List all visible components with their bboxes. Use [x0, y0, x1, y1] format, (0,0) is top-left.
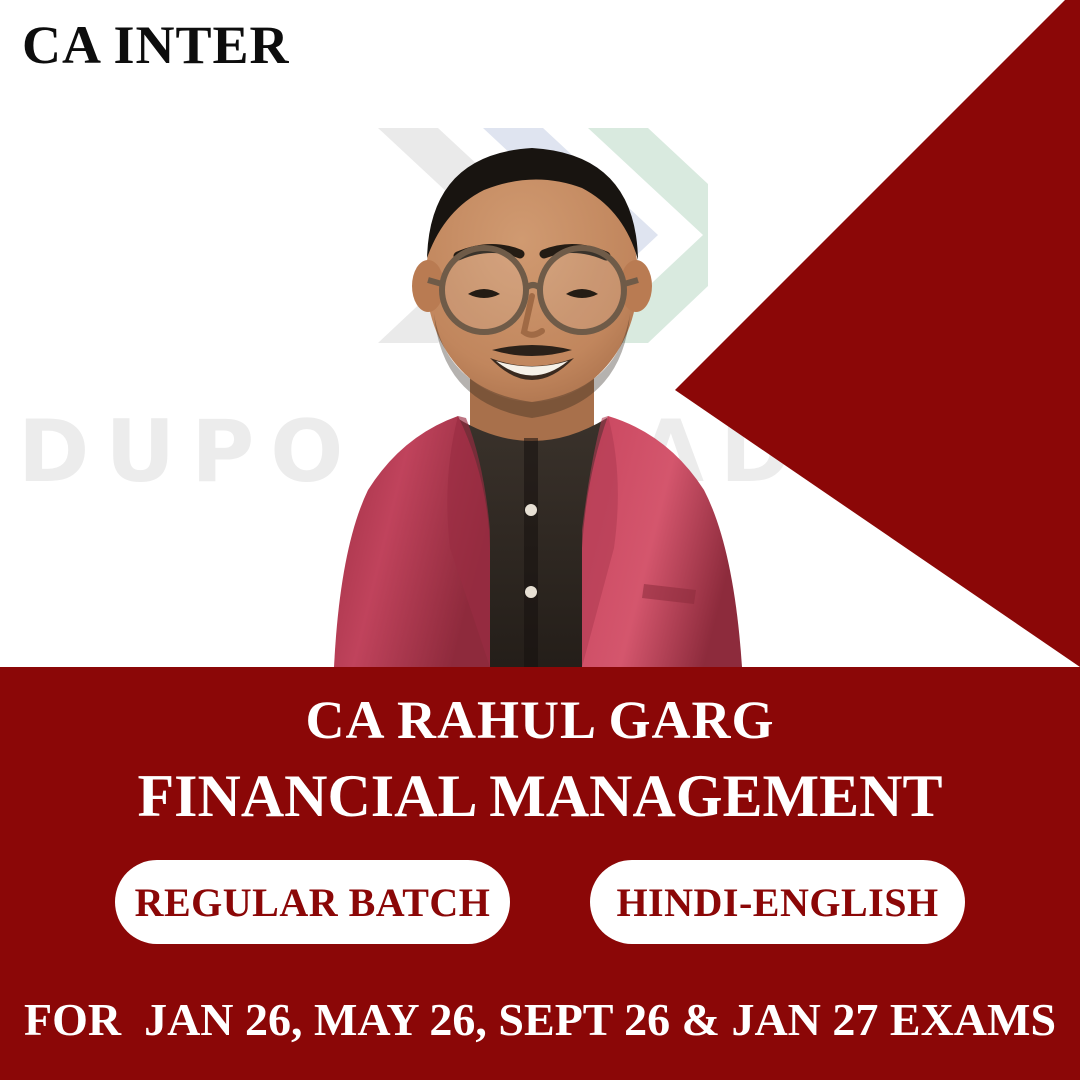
badge-batch-type[interactable]: REGULAR BATCH	[115, 860, 510, 944]
faculty-name: CA RAHUL GARG	[0, 693, 1080, 747]
info-banner: CA RAHUL GARG FINANCIAL MANAGEMENT REGUL…	[0, 667, 1080, 1080]
badge-language[interactable]: HINDI-ENGLISH	[590, 860, 965, 944]
exam-validity-text: FOR JAN 26, MAY 26, SEPT 26 & JAN 27 EXA…	[0, 997, 1080, 1043]
hero-stage: DUPO ADEMY	[0, 0, 1080, 667]
badge-row: REGULAR BATCH HINDI-ENGLISH	[0, 860, 1080, 944]
course-promo-poster: DUPO ADEMY	[0, 0, 1080, 1080]
subject-name: FINANCIAL MANAGEMENT	[0, 766, 1080, 826]
page-title: CA INTER	[22, 18, 290, 72]
